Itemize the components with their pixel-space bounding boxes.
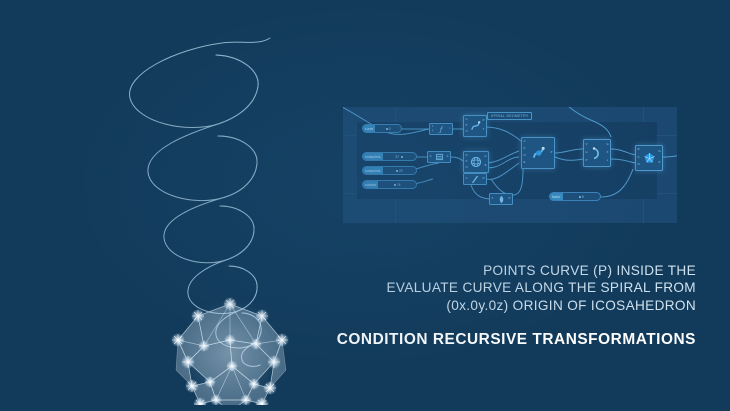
node-divide-outputs[interactable]: R	[481, 174, 486, 184]
slider-dot	[386, 128, 388, 130]
node-sphere[interactable]: RPN GB	[463, 151, 489, 173]
slider-rotation[interactable]: rotation 74	[362, 180, 417, 189]
slider-numpoints-label: numpoints	[363, 153, 383, 160]
node-function-outputs[interactable]: r	[447, 124, 452, 134]
node-series[interactable]: S S	[427, 151, 451, 163]
slider-curve-value: 0	[375, 127, 401, 131]
series-icon	[433, 152, 445, 162]
slider-curve[interactable]: curve 0	[362, 124, 402, 133]
icosahedron-mesh	[171, 297, 289, 405]
slider-numpoints2[interactable]: numpoints 23	[362, 166, 417, 175]
function-icon: ƒ	[435, 124, 447, 134]
node-curve[interactable]: CPN PT	[463, 115, 487, 137]
slider-rotation-label: rotation	[363, 181, 378, 188]
node-evaluate[interactable]: CPNE P	[521, 137, 555, 169]
slider-factor[interactable]: factor 5	[549, 192, 601, 201]
node-sphere-outputs[interactable]: GB	[483, 152, 488, 172]
icosahedron-icon	[641, 146, 657, 170]
node-icosahedron[interactable]: RCN GP	[635, 145, 663, 171]
group-label: SPIRAL GEOMETRY	[487, 112, 532, 120]
transform-icon	[589, 140, 605, 166]
slider-rotation-value: 74	[378, 183, 416, 187]
slider-dot	[394, 184, 396, 186]
artwork-svg	[90, 10, 320, 405]
node-point-outputs[interactable]: P	[507, 194, 512, 204]
curve-icon	[469, 116, 481, 136]
node-curve-outputs[interactable]: PT	[481, 116, 486, 136]
node-function[interactable]: xy ƒ r	[429, 123, 453, 135]
caption-block: POINTS CURVE (P) INSIDE THE EVALUATE CUR…	[300, 262, 696, 349]
caption-title: CONDITION RECURSIVE TRANSFORMATIONS	[300, 331, 696, 349]
slider-numpoints2-label: numpoints	[363, 167, 383, 174]
node-transform[interactable]: VGP GXL	[583, 139, 611, 167]
node-point[interactable]: X P	[489, 193, 513, 205]
node-graph-panel[interactable]: SPIRAL GEOMETRY curve 0 numpoints 57 num…	[343, 107, 677, 223]
slider-dot	[401, 156, 403, 158]
svg-text:ƒ: ƒ	[438, 125, 444, 133]
node-icosahedron-outputs[interactable]: GP	[657, 146, 662, 170]
slider-numpoints-value: 57	[383, 155, 416, 159]
slider-factor-value: 5	[563, 195, 600, 199]
caption-line-3: (0x.0y.0z) ORIGIN OF ICOSAHEDRON	[300, 297, 696, 314]
evaluate-icon	[527, 138, 549, 168]
slider-numpoints2-value: 23	[383, 169, 416, 173]
slider-numpoints[interactable]: numpoints 57	[362, 152, 417, 161]
node-series-outputs[interactable]: S	[445, 152, 450, 162]
slider-factor-label: factor	[550, 193, 563, 200]
node-evaluate-outputs[interactable]: P	[549, 138, 554, 168]
slider-curve-label: curve	[363, 125, 375, 132]
divide-icon	[469, 174, 481, 184]
poster-canvas: SPIRAL GEOMETRY curve 0 numpoints 57 num…	[0, 0, 730, 411]
caption-line-2: EVALUATE CURVE ALONG THE SPIRAL FROM	[300, 279, 696, 296]
slider-dot	[396, 170, 398, 172]
generative-artwork	[90, 10, 320, 405]
caption-line-1: POINTS CURVE (P) INSIDE THE	[300, 262, 696, 279]
node-divide[interactable]: A R	[463, 173, 487, 185]
slider-dot	[579, 196, 581, 198]
node-transform-outputs[interactable]: GXL	[605, 140, 610, 166]
point-icon	[495, 194, 507, 204]
sphere-icon	[469, 152, 483, 172]
